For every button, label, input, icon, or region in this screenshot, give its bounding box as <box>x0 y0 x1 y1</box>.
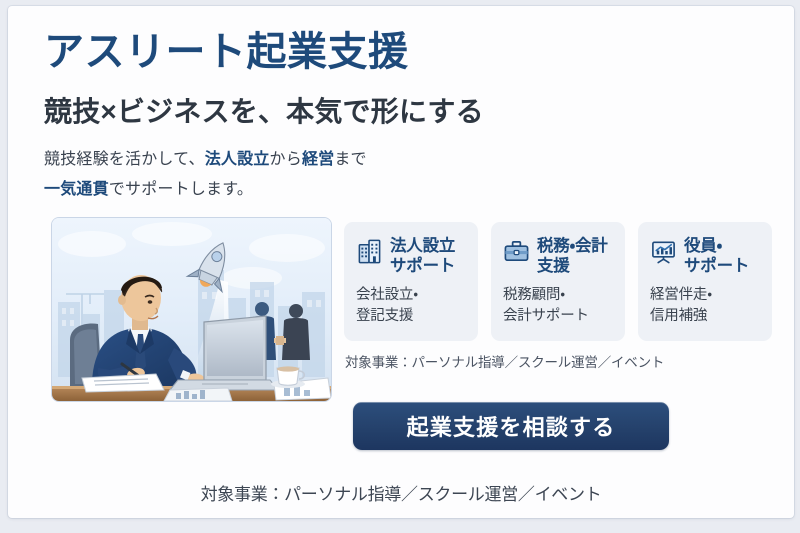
briefcase-icon <box>503 238 530 265</box>
lead-text-1: 競技経験を活かして、 <box>44 151 205 168</box>
card-title-line1: 法人設立 <box>390 237 455 255</box>
lead-paragraph: 競技経験を活かして、法人設立から経営まで 一気通貫でサポートします。 <box>44 145 367 204</box>
lead-text-2: から <box>270 151 302 168</box>
card-description-line1: 会社設立・ <box>356 287 418 303</box>
card-description: 経営伴走・ 信用補強 <box>650 285 761 326</box>
card-title: 税務・会計 支援 <box>537 236 608 276</box>
card-description-line2: 登記支援 <box>356 308 413 324</box>
lead-text-4: でサポートします。 <box>109 181 253 198</box>
lead-highlight-endtoend: 一気通貫 <box>44 181 109 198</box>
card-header: 役員・ サポート <box>650 236 761 276</box>
page-subtitle: 競技×ビジネスを、本気で形にする <box>44 96 484 128</box>
card-description-line1: 経営伴走・ <box>650 287 712 303</box>
card-title: 法人設立 サポート <box>390 236 455 276</box>
card-description-line2: 会計サポート <box>503 308 589 324</box>
landing-page-panel: アスリート起業支援 競技×ビジネスを、本気で形にする 競技経験を活かして、法人設… <box>8 6 794 518</box>
card-title-line1: 税務・会計 <box>537 237 608 255</box>
lead-highlight-incorporation: 法人設立 <box>205 151 270 168</box>
presentation-chart-icon <box>650 238 677 265</box>
card-description: 会社設立・ 登記支援 <box>356 285 467 326</box>
hero-illustration <box>52 218 331 401</box>
office-building-icon <box>356 238 383 265</box>
card-header: 税務・会計 支援 <box>503 236 614 276</box>
service-card-list: 法人設立 サポート 会社設立・ 登記支援 <box>344 222 772 341</box>
lead-text-3: まで <box>334 151 366 168</box>
card-description-line2: 信用補強 <box>650 308 707 324</box>
service-card-incorporation[interactable]: 法人設立 サポート 会社設立・ 登記支援 <box>344 222 478 341</box>
card-description: 税務顧問・ 会計サポート <box>503 285 614 326</box>
card-description-line1: 税務顧問・ <box>503 287 565 303</box>
service-card-tax-accounting[interactable]: 税務・会計 支援 税務顧問・ 会計サポート <box>491 222 625 341</box>
card-title: 役員・ サポート <box>684 236 749 276</box>
lead-highlight-management: 経営 <box>302 151 334 168</box>
target-business-note-top: 対象事業：パーソナル指導／スクール運営／イベント <box>345 351 664 371</box>
card-header: 法人設立 サポート <box>356 236 467 276</box>
card-title-line2: 支援 <box>537 257 570 275</box>
page-title: アスリート起業支援 <box>44 30 409 74</box>
service-card-officer-support[interactable]: 役員・ サポート 経営伴走・ 信用補強 <box>638 222 772 341</box>
consult-cta-button[interactable]: 起業支援を相談する <box>353 402 669 450</box>
card-title-line2: サポート <box>684 257 749 275</box>
target-business-note-bottom: 対象事業：パーソナル指導／スクール運営／イベント <box>8 480 794 505</box>
card-title-line1: 役員・ <box>684 237 722 255</box>
card-title-line2: サポート <box>390 257 455 275</box>
